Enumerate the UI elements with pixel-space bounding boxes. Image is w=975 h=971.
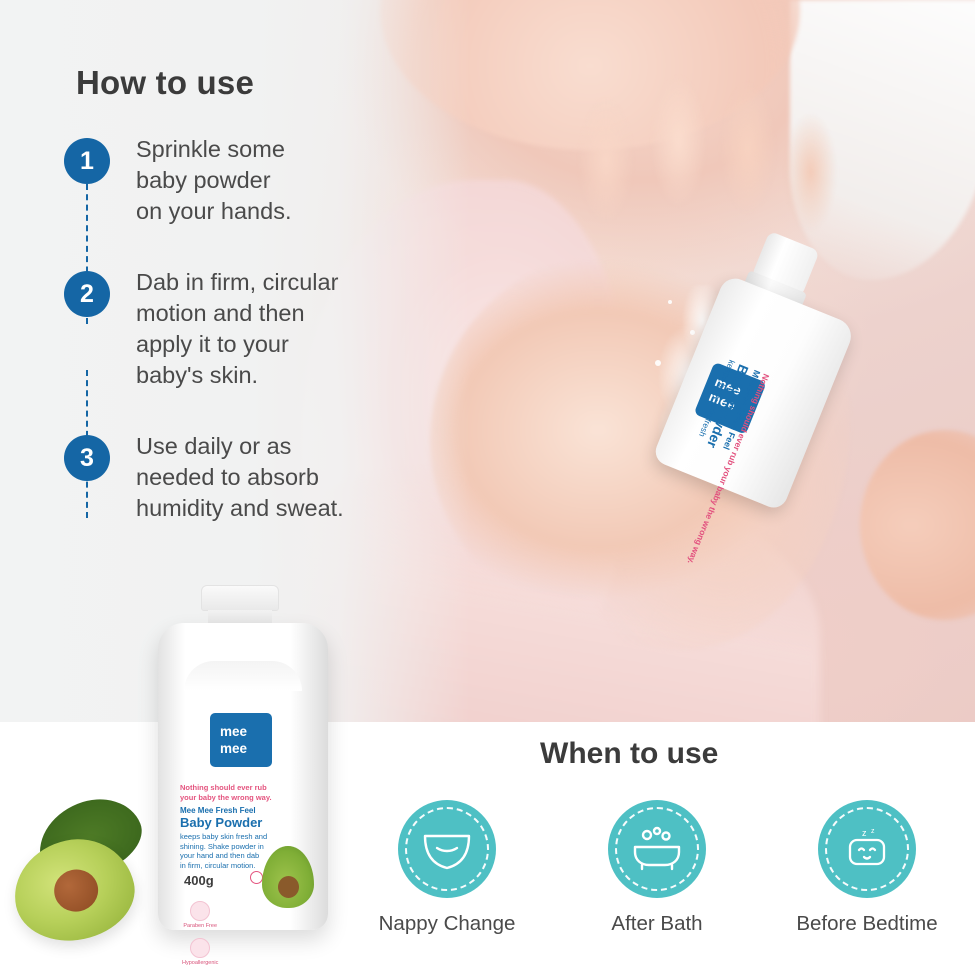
when-to-use-items: Nappy Change After Bath z z bbox=[352, 800, 962, 936]
when-item-after-bath: After Bath bbox=[562, 800, 752, 936]
bathtub-icon bbox=[608, 800, 706, 898]
paraben-free-icon bbox=[190, 901, 210, 921]
badge-paraben-free: Paraben Free bbox=[182, 901, 218, 929]
bottle-weight: 400g bbox=[184, 873, 214, 888]
step-3-text: Use daily or as needed to absorb humidit… bbox=[136, 431, 344, 524]
bottle-body: mee mee Nothing should ever rub your bab… bbox=[158, 623, 328, 930]
bottle-badges: Paraben Free Hypoallergenic bbox=[182, 901, 218, 971]
step-2-number: 2 bbox=[64, 271, 110, 317]
when-item-label: Nappy Change bbox=[352, 912, 542, 936]
powder-speck bbox=[655, 360, 661, 366]
product-infographic: mee mee Nothing should ever rub your bab… bbox=[0, 0, 975, 971]
step-3-number: 3 bbox=[64, 435, 110, 481]
step-1-number: 1 bbox=[64, 138, 110, 184]
when-item-label: Before Bedtime bbox=[772, 912, 962, 936]
bottle-product-name: Baby Powder bbox=[180, 816, 310, 830]
step-1: 1 Sprinkle some baby powder on your hand… bbox=[64, 138, 464, 227]
svg-text:z: z bbox=[862, 828, 867, 838]
svg-text:z: z bbox=[871, 828, 875, 835]
powder-speck bbox=[668, 300, 672, 304]
brand-logo-line1: mee bbox=[220, 723, 272, 740]
diaper-icon bbox=[398, 800, 496, 898]
hypoallergenic-icon bbox=[190, 938, 210, 958]
when-item-before-bedtime: z z Before Bedtime bbox=[772, 800, 962, 936]
badge-hypoallergenic: Hypoallergenic bbox=[182, 938, 218, 966]
brand-logo-line2: mee bbox=[220, 740, 272, 757]
product-bottle-front: mee mee Nothing should ever rub your bab… bbox=[158, 585, 328, 930]
sleeping-baby-glyph: z z bbox=[840, 826, 894, 872]
step-2-text: Dab in firm, circular motion and then ap… bbox=[136, 267, 338, 391]
badge-label: Paraben Free bbox=[183, 923, 217, 929]
when-item-label: After Bath bbox=[562, 912, 752, 936]
bottle-cap bbox=[201, 585, 279, 611]
step-2: 2 Dab in firm, circular motion and then … bbox=[64, 271, 464, 391]
diaper-glyph bbox=[421, 828, 473, 870]
lifestyle-photo: mee mee Nothing should ever rub your bab… bbox=[0, 0, 975, 722]
bottle-tagline: Nothing should ever rub your baby the wr… bbox=[180, 783, 310, 802]
step-1-text: Sprinkle some baby powder on your hands. bbox=[136, 134, 291, 227]
badge-label: Hypoallergenic bbox=[182, 960, 218, 966]
how-to-use-title: How to use bbox=[76, 64, 254, 102]
bathtub-glyph bbox=[630, 826, 684, 872]
when-to-use-title: When to use bbox=[540, 737, 718, 771]
step-3: 3 Use daily or as needed to absorb humid… bbox=[64, 435, 464, 524]
bottle-shoulder bbox=[184, 661, 302, 691]
when-item-nappy-change: Nappy Change bbox=[352, 800, 542, 936]
brand-logo: mee mee bbox=[210, 713, 272, 767]
sleeping-baby-icon: z z bbox=[818, 800, 916, 898]
powder-speck bbox=[690, 330, 695, 335]
how-to-use-steps: 1 Sprinkle some baby powder on your hand… bbox=[64, 138, 464, 524]
